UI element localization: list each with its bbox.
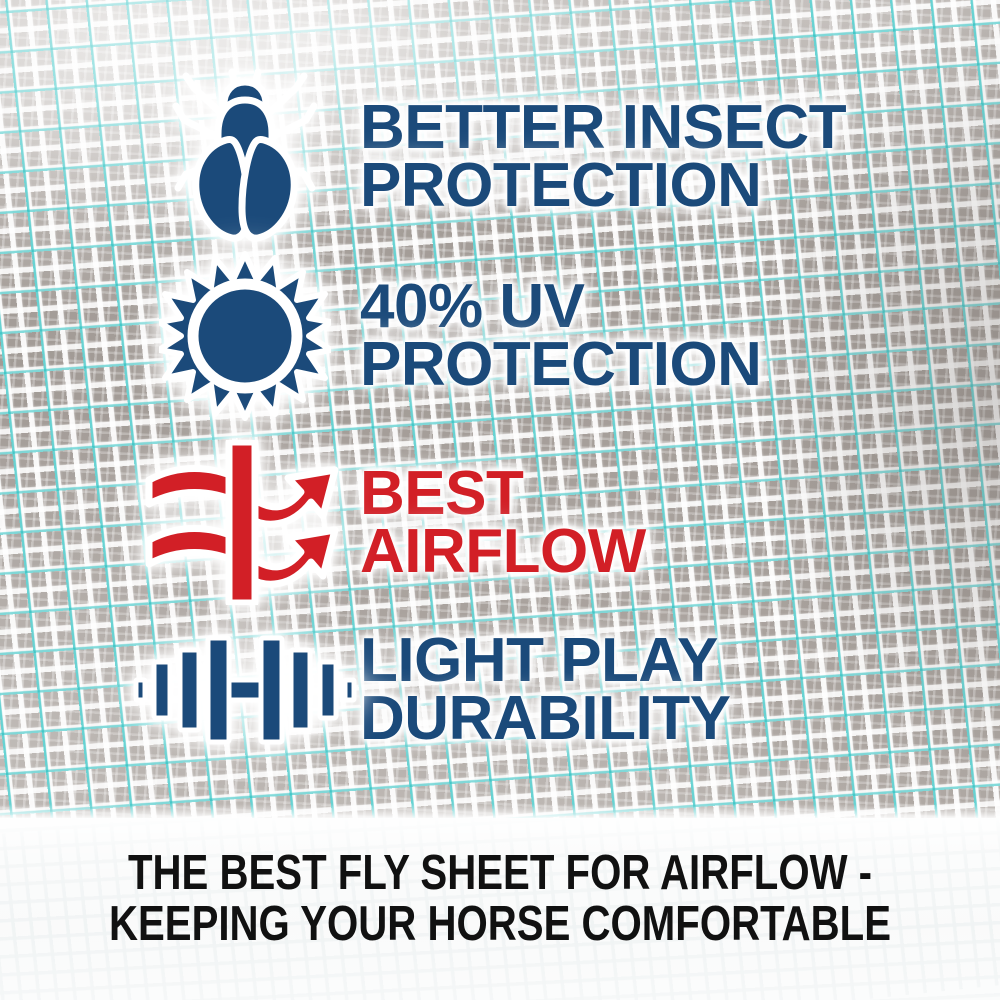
airflow-arrows-icon (145, 440, 345, 605)
feature-label-uv: 40% UV PROTECTION (360, 278, 761, 393)
product-feature-poster: BETTER INSECT PROTECTION 40% UV PROTECTI… (0, 0, 1000, 1000)
feature-icon-wrap-uv (130, 250, 360, 422)
feature-label-insect: BETTER INSECT PROTECTION (360, 99, 846, 214)
feature-icon-wrap-airflow (130, 440, 360, 605)
feature-row-airflow: BEST AIRFLOW (130, 440, 646, 605)
feature-list: BETTER INSECT PROTECTION 40% UV PROTECTI… (0, 0, 1000, 820)
feature-row-durability: LIGHT PLAY DURABILITY (130, 632, 730, 747)
feature-row-uv: 40% UV PROTECTION (130, 250, 761, 422)
caption-headline: THE BEST FLY SHEET FOR AIRFLOW - KEEPING… (90, 848, 910, 950)
feature-label-airflow: BEST AIRFLOW (360, 465, 646, 580)
sun-icon (159, 250, 331, 422)
fly-icon (170, 62, 320, 252)
feature-row-insect: BETTER INSECT PROTECTION (130, 62, 846, 252)
feature-icon-wrap-insect (130, 62, 360, 252)
barbell-icon (132, 634, 358, 746)
feature-icon-wrap-durability (130, 634, 360, 746)
caption-band: THE BEST FLY SHEET FOR AIRFLOW - KEEPING… (0, 818, 1000, 1000)
feature-label-durability: LIGHT PLAY DURABILITY (360, 632, 730, 747)
